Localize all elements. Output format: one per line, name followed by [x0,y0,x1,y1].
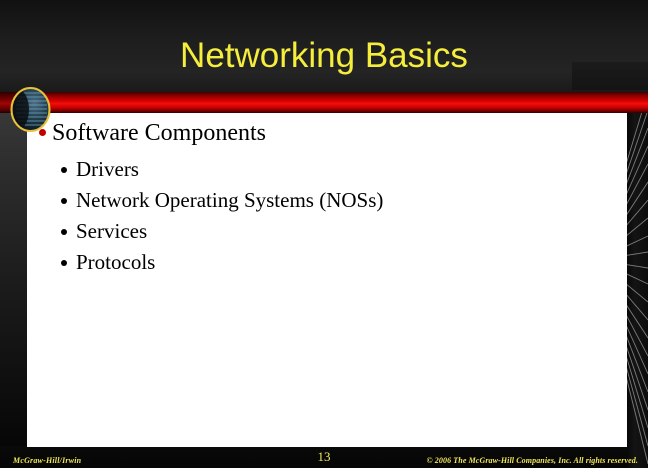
presentation-slide: Networking Basics [0,0,648,468]
bullet-level2-label: Protocols [76,250,155,274]
bullet-level1: Software Components [39,119,266,147]
bullet-level2-label: Drivers [76,157,139,181]
bullet-level2-protocols: Protocols [61,250,155,275]
bullet-level2-label: Services [76,219,147,243]
bullet-level1-label: Software Components [52,120,266,146]
bullet-level2-label: Network Operating Systems (NOSs) [76,188,383,212]
accent-bar [38,92,648,113]
bullet-marker-black [61,229,67,235]
bullet-level2-services: Services [61,219,147,244]
bullet-marker-black [61,260,67,266]
bullet-level2-network-operating-systems: Network Operating Systems (NOSs) [61,188,383,213]
footer-copyright: © 2006 The McGraw-Hill Companies, Inc. A… [427,456,638,465]
globe-icon [9,86,52,133]
content-panel: Software Components Drivers Network Oper… [27,113,627,447]
bullet-marker-black [61,167,67,173]
bullet-marker-black [61,198,67,204]
radial-fan-decoration [627,92,648,468]
slide-title: Networking Basics [0,36,648,76]
slide-background-left-strip [0,100,28,448]
bullet-level2-drivers: Drivers [61,157,139,182]
